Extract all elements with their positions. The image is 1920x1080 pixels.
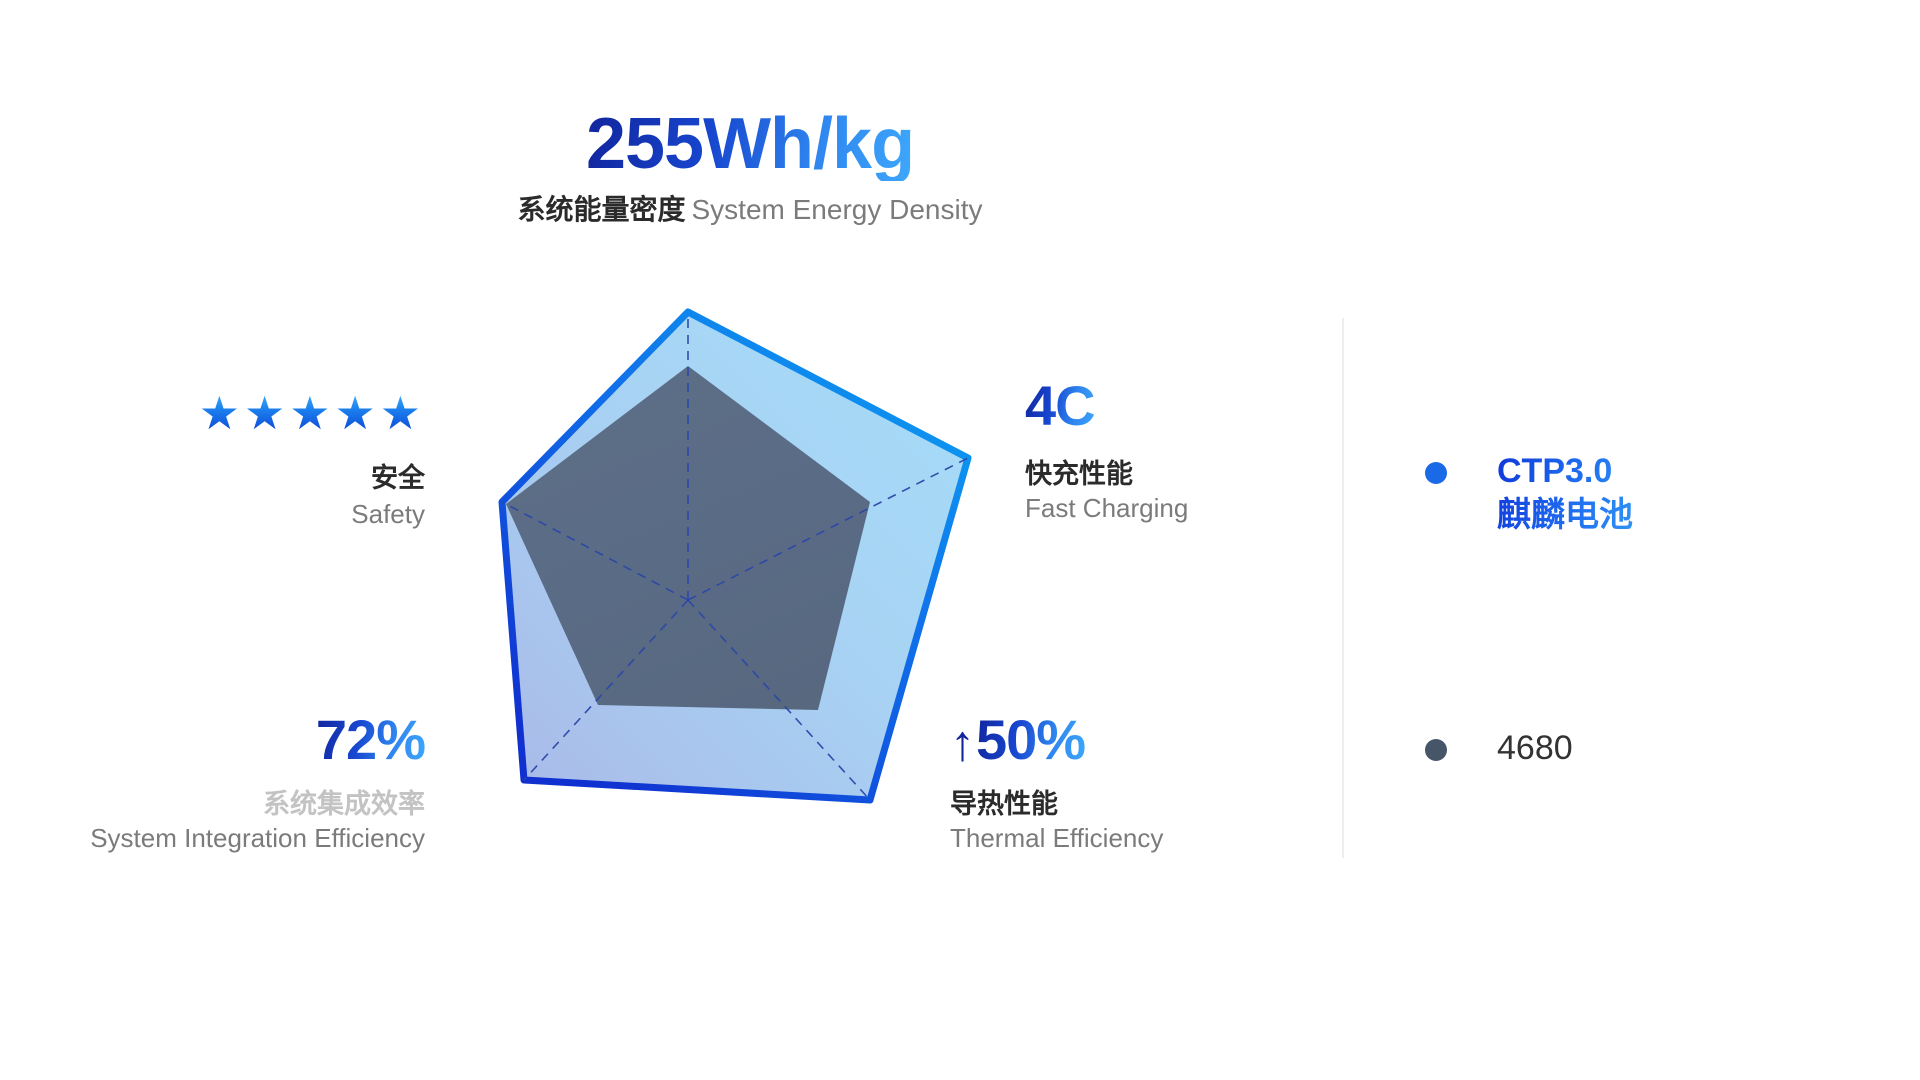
radar-chart	[470, 280, 1010, 840]
energy-density-value: 255Wh/kg	[586, 108, 914, 181]
thermal-efficiency-number: 50%	[976, 712, 1085, 768]
star-rating-glyphs: ★★★★★	[199, 390, 425, 436]
thermal-efficiency-value: ↑50%	[950, 712, 1290, 768]
vertical-divider	[1342, 318, 1344, 858]
arrow-up-icon: ↑	[950, 718, 974, 768]
legend-label-4680: 4680	[1497, 727, 1573, 771]
system-integration-label-en: System Integration Efficiency	[40, 822, 425, 856]
energy-density-label: 系统能量密度System Energy Density	[400, 193, 1100, 227]
fast-charging-label-cn: 快充性能	[1025, 456, 1355, 492]
legend-label-ctp3: CTP3.0 麒麟电池	[1497, 450, 1633, 537]
legend-dot-icon-ctp3	[1425, 462, 1447, 484]
chart-legend: CTP3.0 麒麟电池 4680	[1425, 450, 1845, 771]
legend-item-4680[interactable]: 4680	[1425, 727, 1845, 771]
safety-label-cn: 安全	[60, 460, 425, 496]
fast-charging-label-en: Fast Charging	[1025, 492, 1355, 526]
metric-fast-charging: 4C 快充性能 Fast Charging	[1025, 378, 1355, 526]
metric-thermal-efficiency: ↑50% 导热性能 Thermal Efficiency	[950, 712, 1290, 856]
fast-charging-value: 4C	[1025, 378, 1095, 434]
thermal-efficiency-label-en: Thermal Efficiency	[950, 822, 1290, 856]
safety-stars: ★★★★★	[60, 390, 425, 436]
legend-item-ctp3[interactable]: CTP3.0 麒麟电池	[1425, 450, 1845, 537]
energy-density-label-en: System Energy Density	[692, 194, 983, 225]
thermal-efficiency-label-cn: 导热性能	[950, 786, 1290, 822]
energy-density-label-cn: 系统能量密度	[517, 194, 685, 225]
system-integration-value: 72%	[316, 712, 425, 768]
headline-block: 255Wh/kg 系统能量密度System Energy Density	[400, 108, 1100, 227]
system-integration-label-cn: 系统集成效率	[40, 786, 425, 822]
safety-label-en: Safety	[60, 498, 425, 532]
metric-safety: ★★★★★ 安全 Safety	[60, 390, 425, 532]
legend-dot-icon-4680	[1425, 739, 1447, 761]
metric-system-integration: 72% 系统集成效率 System Integration Efficiency	[40, 712, 425, 856]
slide-canvas: 255Wh/kg 系统能量密度System Energy Density	[0, 0, 1920, 1080]
